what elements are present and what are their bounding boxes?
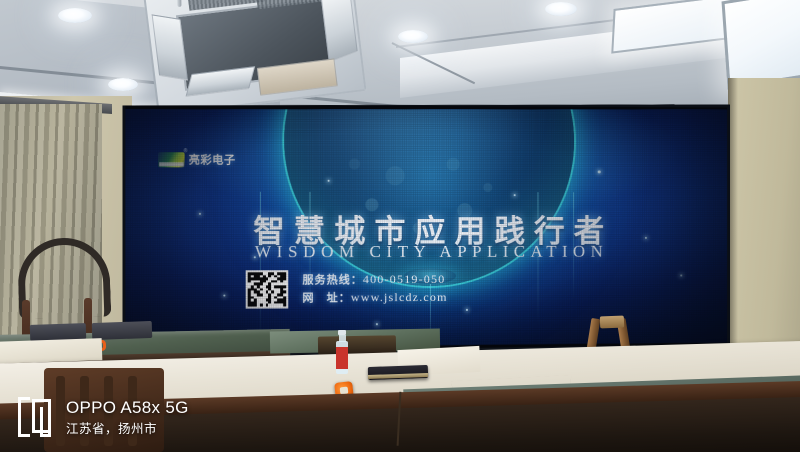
downlight-icon xyxy=(58,8,92,23)
led-brand-logo: ® 亮彩电子 xyxy=(158,151,235,167)
downlight-icon xyxy=(108,78,138,91)
oppo-logo-bar-left xyxy=(18,397,30,437)
watermark-device: OPPO A58x 5G xyxy=(66,397,189,418)
downlight-icon xyxy=(398,30,428,43)
bottle-body xyxy=(336,341,348,374)
led-contact-lines: 服务热线：400-0519-050 网 址：www.jslcdz.com xyxy=(302,271,447,307)
hotline-value: 400-0519-050 xyxy=(363,272,446,286)
ceiling-light-panel xyxy=(722,0,800,90)
watermark-text: OPPO A58x 5G 江苏省，扬州市 xyxy=(66,397,189,438)
liangcai-logo-mark xyxy=(158,152,185,167)
trademark-symbol: ® xyxy=(184,148,188,154)
watermark-location: 江苏省，扬州市 xyxy=(66,421,189,438)
ladder-top-cap xyxy=(600,316,624,329)
website-label: 网 址： xyxy=(302,292,350,304)
camera-watermark: OPPO A58x 5G 江苏省，扬州市 xyxy=(18,397,189,438)
website-value: www.jslcdz.com xyxy=(351,290,448,304)
ac-pipe xyxy=(177,0,181,7)
led-subtitle: WISDOM CITY APPLICATION xyxy=(125,242,727,263)
led-video-wall[interactable]: ® 亮彩电子 智慧城市应用践行者 WISDOM CITY APPLICATION… xyxy=(122,101,730,352)
led-wall-display: ® 亮彩电子 智慧城市应用践行者 WISDOM CITY APPLICATION… xyxy=(125,107,727,349)
qr-code[interactable] xyxy=(246,270,289,308)
downlight-icon xyxy=(545,2,577,16)
oppo-logo-icon xyxy=(18,397,52,437)
qr-cell xyxy=(283,304,286,307)
website-row: 网 址：www.jslcdz.com xyxy=(302,289,447,307)
oppo-logo-bar-right xyxy=(40,407,51,437)
hotline-label: 服务热线： xyxy=(302,274,362,286)
led-brand-name: 亮彩电子 xyxy=(189,151,236,167)
photo-scene: ® 亮彩电子 智慧城市应用践行者 WISDOM CITY APPLICATION… xyxy=(0,0,800,452)
water-bottle xyxy=(336,330,348,374)
hotline-row: 服务热线：400-0519-050 xyxy=(302,271,447,289)
led-contact-block: 服务热线：400-0519-050 网 址：www.jslcdz.com xyxy=(246,270,448,309)
